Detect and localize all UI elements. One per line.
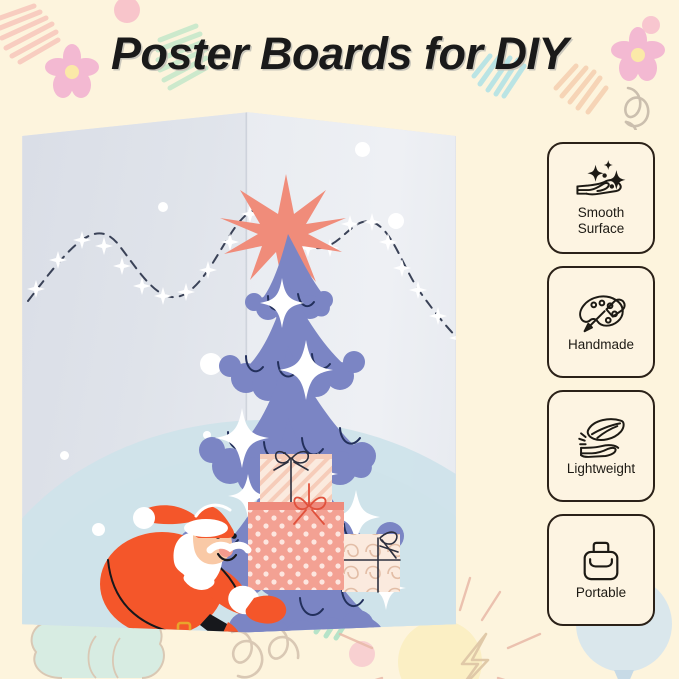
feature-card-handmade[interactable]: Handmade: [547, 266, 655, 378]
falling-snow-dot: [203, 431, 211, 439]
feature-label-handmade: Handmade: [568, 337, 634, 353]
falling-snow-dot: [152, 566, 162, 576]
feature-card-list: Smooth Surface Handmade: [547, 142, 655, 626]
falling-snow-dot: [92, 523, 105, 536]
dot-pink-bottom: [349, 641, 375, 667]
feature-card-smooth-surface[interactable]: Smooth Surface: [547, 142, 655, 254]
feature-card-lightweight[interactable]: Lightweight: [547, 390, 655, 502]
falling-snow-dot: [355, 142, 370, 157]
falling-snow-dot: [60, 451, 69, 460]
lightning-doodle-bottom: [458, 634, 488, 679]
falling-snow-dot: [388, 213, 404, 229]
feather-hand-icon: [572, 415, 630, 459]
board-panel-right: [456, 96, 530, 636]
sparkle-hand-icon: [572, 159, 630, 203]
spiral-doodle-top-right: [623, 88, 648, 130]
page-title-container: Poster Boards for DIY: [0, 18, 679, 90]
feature-label-portable: Portable: [576, 585, 626, 601]
poster-board: [0, 96, 530, 636]
page-title: Poster Boards for DIY: [111, 28, 568, 80]
falling-snow-dot: [200, 353, 222, 375]
briefcase-icon: [572, 539, 630, 583]
poster-graphic: Poster Boards for DIY: [0, 0, 679, 679]
feature-label-smooth-surface: Smooth Surface: [578, 205, 625, 237]
feature-card-portable[interactable]: Portable: [547, 514, 655, 626]
poster-board-surface: [0, 96, 530, 636]
falling-snow-dot: [158, 202, 168, 212]
feature-label-lightweight: Lightweight: [567, 461, 635, 477]
santa-back-leg: [98, 628, 162, 636]
palette-brush-icon: [572, 291, 630, 335]
